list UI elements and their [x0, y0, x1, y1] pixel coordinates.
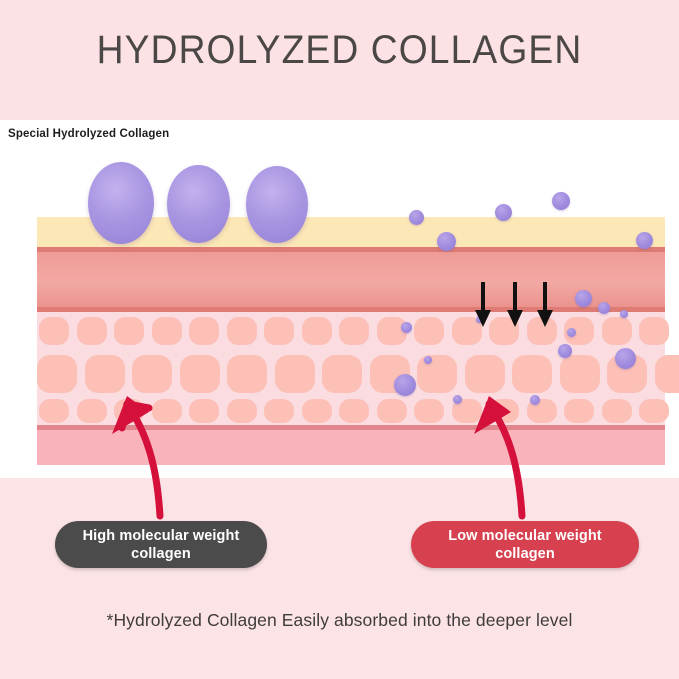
low-molecular-weight-collagen-molecule — [552, 192, 570, 210]
collagen-cell — [414, 399, 444, 423]
collagen-cell — [302, 317, 332, 345]
collagen-cell — [114, 399, 144, 423]
collagen-cell — [227, 317, 257, 345]
high-molecular-weight-collagen-molecule — [167, 165, 230, 243]
collagen-cell — [639, 317, 669, 345]
collagen-cell — [39, 399, 69, 423]
collagen-cell — [152, 399, 182, 423]
collagen-cell — [377, 399, 407, 423]
low-molecular-weight-collagen-molecule — [409, 210, 424, 225]
page-title: HYDROLYZED COLLAGEN — [24, 28, 655, 73]
low-molecular-weight-collagen-molecule — [437, 232, 456, 251]
header-band: HYDROLYZED COLLAGEN — [0, 0, 679, 120]
collagen-cell — [639, 399, 669, 423]
low-molecular-weight-collagen-molecule — [401, 322, 412, 333]
low-molecular-weight-collagen-molecule — [394, 374, 416, 396]
layer-rule-upper — [37, 247, 665, 252]
illustration-panel: Special Hydrolyzed Collagen — [0, 120, 679, 478]
collagen-cell — [322, 355, 362, 393]
label-high-molecular-weight[interactable]: High molecular weight collagen — [55, 521, 267, 568]
collagen-cell — [189, 399, 219, 423]
low-molecular-weight-collagen-molecule — [558, 344, 572, 358]
collagen-cell — [417, 355, 457, 393]
low-molecular-weight-collagen-molecule — [424, 356, 432, 364]
collagen-cell — [152, 317, 182, 345]
footer-note: *Hydrolyzed Collagen Easily absorbed int… — [0, 610, 679, 631]
collagen-cell — [339, 399, 369, 423]
panel-label: Special Hydrolyzed Collagen — [8, 128, 169, 140]
collagen-cell — [227, 355, 267, 393]
collagen-cell — [560, 355, 600, 393]
layer-hypodermis — [37, 430, 665, 465]
low-molecular-weight-collagen-molecule — [476, 316, 483, 323]
collagen-cell — [465, 355, 505, 393]
infographic-root: HYDROLYZED COLLAGEN Special Hydrolyzed C… — [0, 0, 679, 679]
high-molecular-weight-collagen-molecule — [246, 166, 308, 243]
low-molecular-weight-collagen-molecule — [575, 290, 592, 307]
collagen-cell — [564, 399, 594, 423]
label-low-molecular-weight[interactable]: Low molecular weight collagen — [411, 521, 639, 568]
low-molecular-weight-collagen-molecule — [495, 204, 512, 221]
collagen-cell — [512, 355, 552, 393]
low-molecular-weight-collagen-molecule — [567, 328, 576, 337]
low-molecular-weight-collagen-molecule — [620, 310, 628, 318]
collagen-cell — [655, 355, 679, 393]
label-high-line2: collagen — [83, 545, 240, 563]
collagen-cell — [132, 355, 172, 393]
layer-papillary-dermis — [37, 252, 665, 307]
collagen-cell — [39, 317, 69, 345]
collagen-cell — [489, 399, 519, 423]
collagen-cell — [275, 355, 315, 393]
collagen-cell — [114, 317, 144, 345]
collagen-cell — [77, 317, 107, 345]
collagen-cell — [602, 399, 632, 423]
low-molecular-weight-collagen-molecule — [530, 395, 540, 405]
collagen-cell — [180, 355, 220, 393]
collagen-cell — [527, 317, 557, 345]
low-molecular-weight-collagen-molecule — [615, 348, 636, 369]
low-molecular-weight-collagen-molecule — [453, 395, 462, 404]
collagen-cell — [85, 355, 125, 393]
skin-cross-section — [37, 217, 665, 465]
label-low-line1: Low molecular weight — [448, 527, 601, 545]
collagen-cell — [37, 355, 77, 393]
collagen-cell — [264, 317, 294, 345]
collagen-cell — [302, 399, 332, 423]
collagen-cell — [339, 317, 369, 345]
collagen-cell — [602, 317, 632, 345]
collagen-cell — [264, 399, 294, 423]
label-low-line2: collagen — [448, 545, 601, 563]
low-molecular-weight-collagen-molecule — [636, 232, 653, 249]
low-molecular-weight-collagen-molecule — [598, 302, 610, 314]
collagen-cell — [489, 317, 519, 345]
collagen-cell — [189, 317, 219, 345]
high-molecular-weight-collagen-molecule — [88, 162, 154, 244]
collagen-cell — [227, 399, 257, 423]
collagen-cell — [414, 317, 444, 345]
collagen-cell — [77, 399, 107, 423]
label-high-line1: High molecular weight — [83, 527, 240, 545]
